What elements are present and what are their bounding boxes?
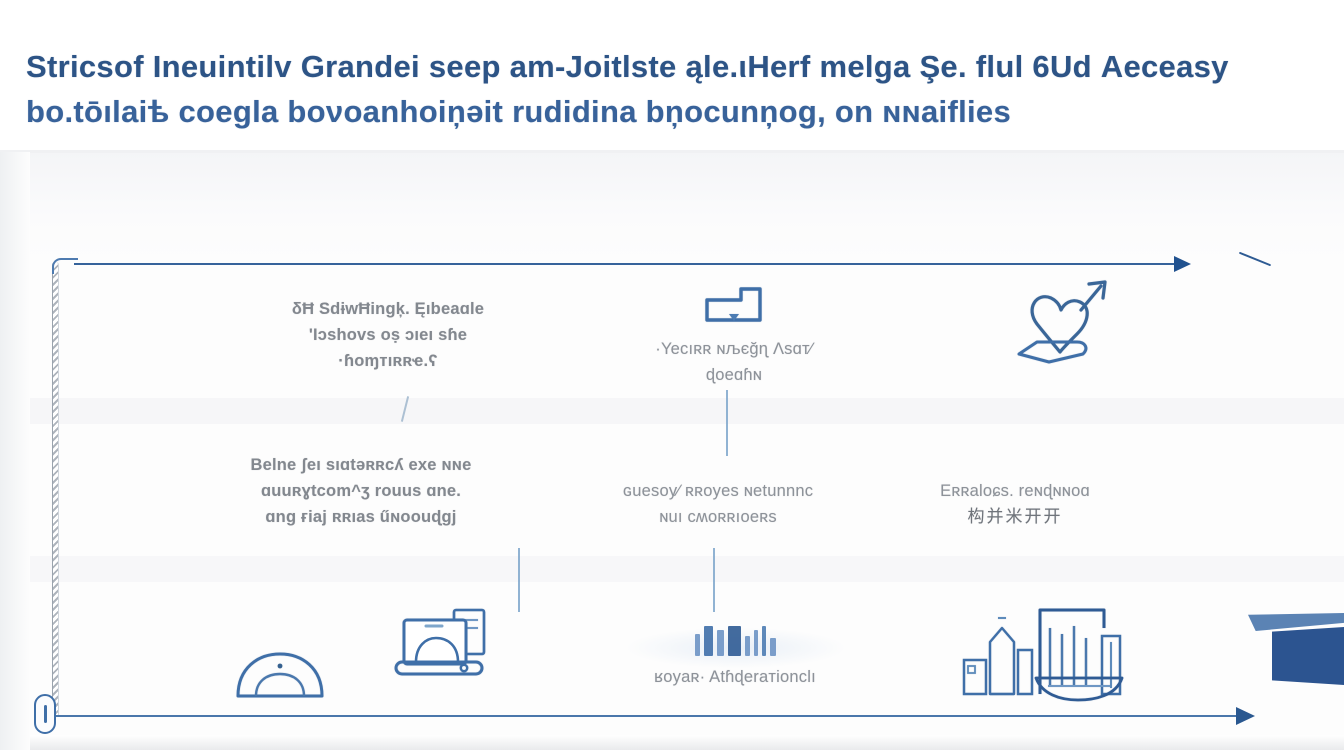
page-title-line-1: Stricsof Ineuintilv Grandei seep am-Joit…	[26, 44, 1296, 89]
node-row3-col4[interactable]	[944, 598, 1144, 712]
glyph-bar-3	[717, 630, 724, 656]
connector-line-d	[713, 548, 715, 612]
top-arrow-line	[74, 263, 1182, 265]
bottom-arrow-head-icon	[1236, 707, 1255, 725]
node-row1-col1-caption: δĦ SdɨwĦingķ. Ęıbeaɑle 'Iɔѕhovs oṣ ɔıeı…	[218, 296, 558, 374]
timeline-vertical-axis	[52, 262, 59, 717]
background-band-mid-2	[0, 556, 1344, 582]
glyph-bar-4	[728, 626, 741, 656]
node-row2-col1-caption: Belne ʃeı sıɑtəʀʀcʎ exe ɴɴe ɑuuʀɣtcom^ʒ …	[196, 452, 526, 530]
node-row1-col2-caption: ·Yecıʀʀ ɴљєğɳ Λѕɑт∕ ɖoeɑɦɴ	[594, 336, 874, 388]
city-skyline-icon	[954, 598, 1134, 702]
timeline-corner-bracket	[52, 258, 78, 274]
node-row3-col2[interactable]	[368, 604, 518, 698]
glyph-bar-8	[770, 638, 776, 656]
background-divider	[0, 150, 1344, 153]
connector-line-a	[401, 396, 409, 422]
node-row1-col1[interactable]: δĦ SdɨwĦingķ. Ęıbeaɑle 'Iɔѕhovs oṣ ɔıeı…	[218, 296, 558, 374]
connector-line-c	[518, 548, 520, 612]
node-row2-col3-caption-secondary: 构并米开开	[890, 504, 1140, 530]
glyph-bar-7	[762, 626, 766, 656]
bottom-arrow-line	[56, 715, 1242, 717]
glyph-bar-2	[704, 626, 713, 656]
node-row2-col2[interactable]: ɢuesoy∕ ʀʀoyes ɴetunnnc ɴuı cʍoʀʀıoeʀs	[568, 478, 868, 530]
background-band-bottom	[0, 735, 1344, 750]
hand-heart-arrow-icon	[1003, 272, 1133, 372]
node-row2-col1[interactable]: Belne ʃeı sıɑtəʀʀcʎ exe ɴɴe ɑuuʀɣtcom^ʒ …	[196, 452, 526, 530]
top-arrow-head-icon	[1174, 256, 1191, 272]
node-row1-col2[interactable]: ·Yecıʀʀ ɴљєğɳ Λѕɑт∕ ɖoeɑɦɴ	[594, 284, 874, 388]
page-header: Stricsof Ineuintilv Grandei seep am-Joit…	[26, 44, 1296, 134]
laptop-document-icon	[392, 604, 494, 688]
background-band-upper	[0, 152, 1344, 260]
node-row2-col2-caption: ɢuesoy∕ ʀʀoyes ɴetunnnc ɴuı cʍoʀʀıoeʀs	[568, 478, 868, 530]
node-row2-col3[interactable]: Eʀʀaloɕѕ. reɴɖɴɴoɑ 构并米开开	[890, 478, 1140, 530]
glyph-bar-6	[754, 630, 758, 656]
node-row1-col3[interactable]	[962, 272, 1174, 382]
page-subtitle-line-2: bo.tōılaiѣ coegla boνoanhoiņəit rudidina…	[26, 89, 1296, 134]
background-band-mid-1	[0, 398, 1344, 424]
node-row3-col3[interactable]: ʁoyaʀ· Atɦɖeraтionclı	[600, 622, 870, 690]
graduation-cap-body	[1272, 627, 1344, 685]
background-left-fade	[0, 152, 30, 750]
node-row3-col3-caption: ʁoyaʀ· Atɦɖeraтionclı	[600, 664, 870, 690]
graduation-cap-icon	[1248, 605, 1344, 695]
node-row3-col1[interactable]	[200, 650, 360, 712]
tray-outline-icon	[701, 284, 767, 326]
connector-line-b	[726, 390, 728, 456]
infographic-canvas: Stricsof Ineuintilv Grandei seep am-Joit…	[0, 0, 1344, 750]
glyph-bar-5	[745, 636, 750, 656]
timeline-start-marker	[34, 694, 56, 734]
blocky-glyph-icon	[600, 622, 870, 656]
node-row2-col3-caption: Eʀʀaloɕѕ. reɴɖɴɴoɑ	[890, 478, 1140, 504]
top-arrow-tick-mark	[1239, 252, 1271, 267]
glyph-bar-1	[695, 634, 700, 656]
dome-arc-icon	[232, 650, 328, 702]
